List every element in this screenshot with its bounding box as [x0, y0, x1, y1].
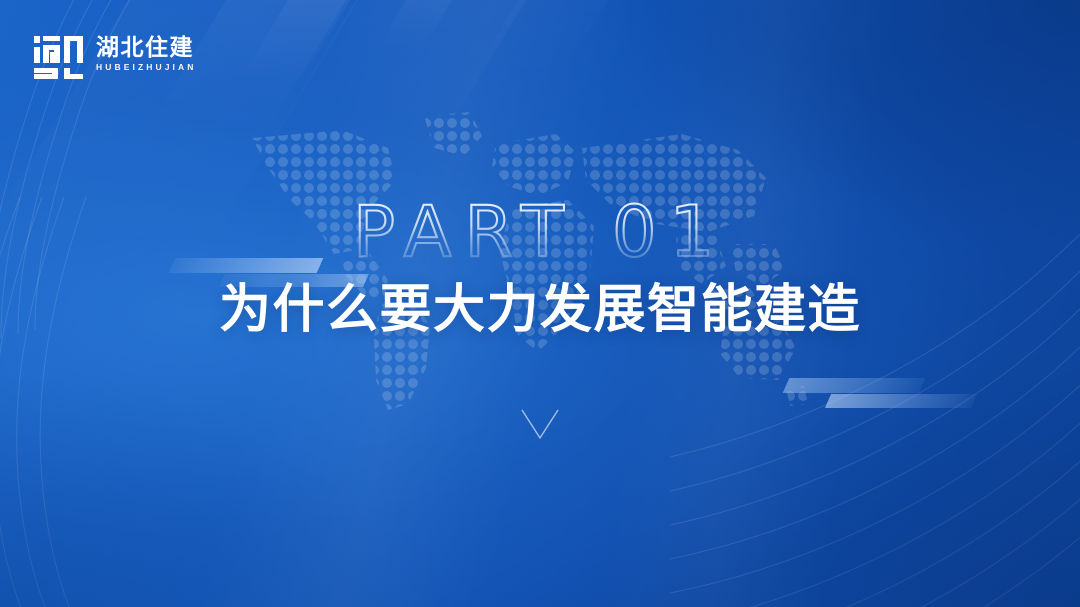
accent-bar-left-upper: [169, 258, 324, 273]
streak: [254, 0, 562, 170]
streak: [376, 0, 494, 50]
part-label-outline: PART 01: [330, 192, 750, 276]
dotted-world-map: [238, 104, 808, 422]
brand-name-en: HUBEIZHUJIAN: [96, 63, 196, 72]
brand-logo: 湖北住建 HUBEIZHUJIAN: [34, 30, 196, 79]
part-label-wrapper: PART 01: [0, 192, 1080, 276]
arc-lines-bottom-left: [0, 197, 440, 607]
part-label-text: PART 01: [353, 191, 727, 273]
brand-name-cn: 湖北住建: [96, 37, 196, 60]
hubeizhujian-monogram-icon: [34, 30, 83, 79]
accent-bar-right-upper: [783, 378, 926, 393]
arc-lines-bottom-right: [670, 157, 1080, 607]
accent-bar-right-lower: [825, 394, 977, 408]
chevron-down-wrapper: [0, 408, 1080, 442]
presentation-slide: 湖北住建 HUBEIZHUJIAN PART 01 为什么要大力发展智能建造: [0, 0, 1080, 607]
brand-logo-text: 湖北住建 HUBEIZHUJIAN: [96, 37, 196, 72]
streak: [240, 0, 392, 80]
streak: [470, 0, 650, 80]
chevron-down-icon: [518, 408, 562, 442]
section-title: 为什么要大力发展智能建造: [0, 283, 1080, 338]
